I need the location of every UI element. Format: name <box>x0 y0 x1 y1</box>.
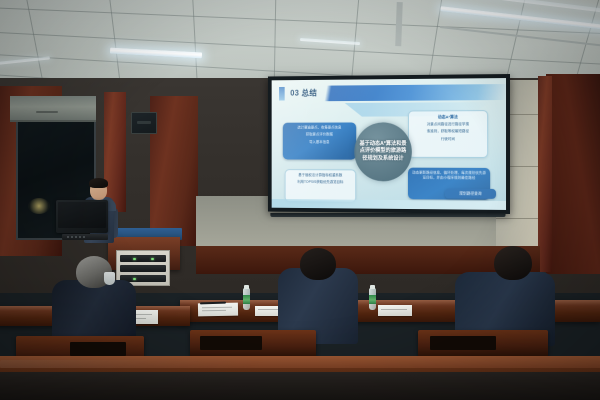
keyboard-key <box>83 236 85 238</box>
projection-screen: 03 总结 选计要途景点、收集景点信息 获取景点评价数据 导入基本信息 动态A*… <box>268 74 510 214</box>
window-exterior-light <box>28 198 50 214</box>
keyboard-key <box>67 236 69 238</box>
chair-back-center <box>190 330 316 356</box>
water-bottle <box>369 288 376 310</box>
podium-monitor <box>56 200 108 233</box>
slide-center-text: 基于动态A*算法和景点评价模型的旅游路径规划及系统设计 <box>358 141 408 163</box>
back-wall-wainscot <box>196 246 540 274</box>
desk-reflection <box>0 360 260 368</box>
left-wood-wall-panel <box>150 96 198 246</box>
document-sheet <box>378 305 412 316</box>
rack-unit <box>120 265 166 272</box>
paper-text-line <box>202 310 226 311</box>
screen-bottom-rail <box>270 213 505 217</box>
slide-box-line: 利用TOPSIS获取优先游览目标 <box>289 180 351 186</box>
right-wood-wall <box>546 74 600 274</box>
slide-box-line: 动态更新路径信息、循环处理、每次规划优先游览目标，并由小程序规划最佳路径 <box>412 171 486 182</box>
chair-back-right <box>418 330 548 356</box>
paper-text-line <box>202 307 232 309</box>
right-wall-column <box>538 76 552 272</box>
slide-box-heading: 动态A*算法 <box>413 114 483 120</box>
slide-box-line: 导入基本信息 <box>287 140 353 145</box>
rack-indicator-led <box>133 258 136 260</box>
presentation-slide: 03 总结 选计要途景点、收集景点信息 获取景点评价数据 导入基本信息 动态A*… <box>272 78 506 210</box>
blind-slot <box>36 111 58 113</box>
paper-text-line <box>381 309 407 310</box>
attendee-right-head <box>494 246 532 280</box>
attendee-center-head <box>300 248 336 280</box>
wall-speaker <box>131 112 157 134</box>
rack-unit <box>120 255 166 262</box>
slide-box-line: 行驶时间 <box>413 137 483 142</box>
slide-title: 03 总结 <box>290 87 317 101</box>
bottle-label <box>369 295 376 304</box>
paper-text-line <box>258 309 280 310</box>
chair-slot <box>200 336 262 350</box>
keyboard-key <box>75 236 77 238</box>
presenter-hair <box>89 178 108 188</box>
face-mask <box>104 272 115 285</box>
slide-center-circle: 基于动态A*算法和景点评价模型的旅游路径规划及系统设计 <box>354 122 412 181</box>
podium-keyboard[interactable] <box>62 234 108 240</box>
document-sheet <box>198 303 238 317</box>
slide-box-line: 获取景点评价数据 <box>287 133 353 138</box>
conference-room-scene: 03 总结 选计要途景点、收集景点信息 获取景点评价数据 导入基本信息 动态A*… <box>0 0 600 400</box>
bottle-cap <box>370 285 375 289</box>
monitor-screen <box>58 202 106 228</box>
bottle-cap <box>244 285 249 289</box>
keyboard-key <box>71 236 73 238</box>
slide-action-button[interactable]: 规划路径查询 <box>445 189 496 199</box>
slide-header-accent <box>279 87 285 101</box>
slide-box-top-right: 动态A*算法 对景点间路径进行路径学搜 索准则，获取等权最短路径 行驶时间 <box>408 110 488 158</box>
rack-indicator-led <box>133 278 136 280</box>
slide-box-line: 基于赋权法计算指标权重系数 <box>289 173 351 179</box>
window-blind <box>10 96 96 122</box>
slide-box-line: 对景点间路径进行路径学搜 <box>413 122 483 128</box>
water-bottle <box>243 288 250 310</box>
keyboard-key <box>79 236 81 238</box>
bottle-label <box>243 295 250 304</box>
slide-box-bottom-left: 基于赋权法计算指标权重系数 利用TOPSIS获取优先游览目标 <box>285 169 357 203</box>
floor <box>0 372 600 400</box>
rack-indicator-led <box>151 258 154 260</box>
slide-box-line: 选计要途景点、收集景点信息 <box>287 125 353 130</box>
slide-box-line: 索准则，获取等权最短路径 <box>413 129 483 134</box>
chair-slot <box>430 336 496 350</box>
wall-column <box>104 92 126 212</box>
chair-slot <box>70 342 126 356</box>
slide-box-top-left: 选计要途景点、收集景点信息 获取景点评价数据 导入基本信息 <box>283 122 356 159</box>
